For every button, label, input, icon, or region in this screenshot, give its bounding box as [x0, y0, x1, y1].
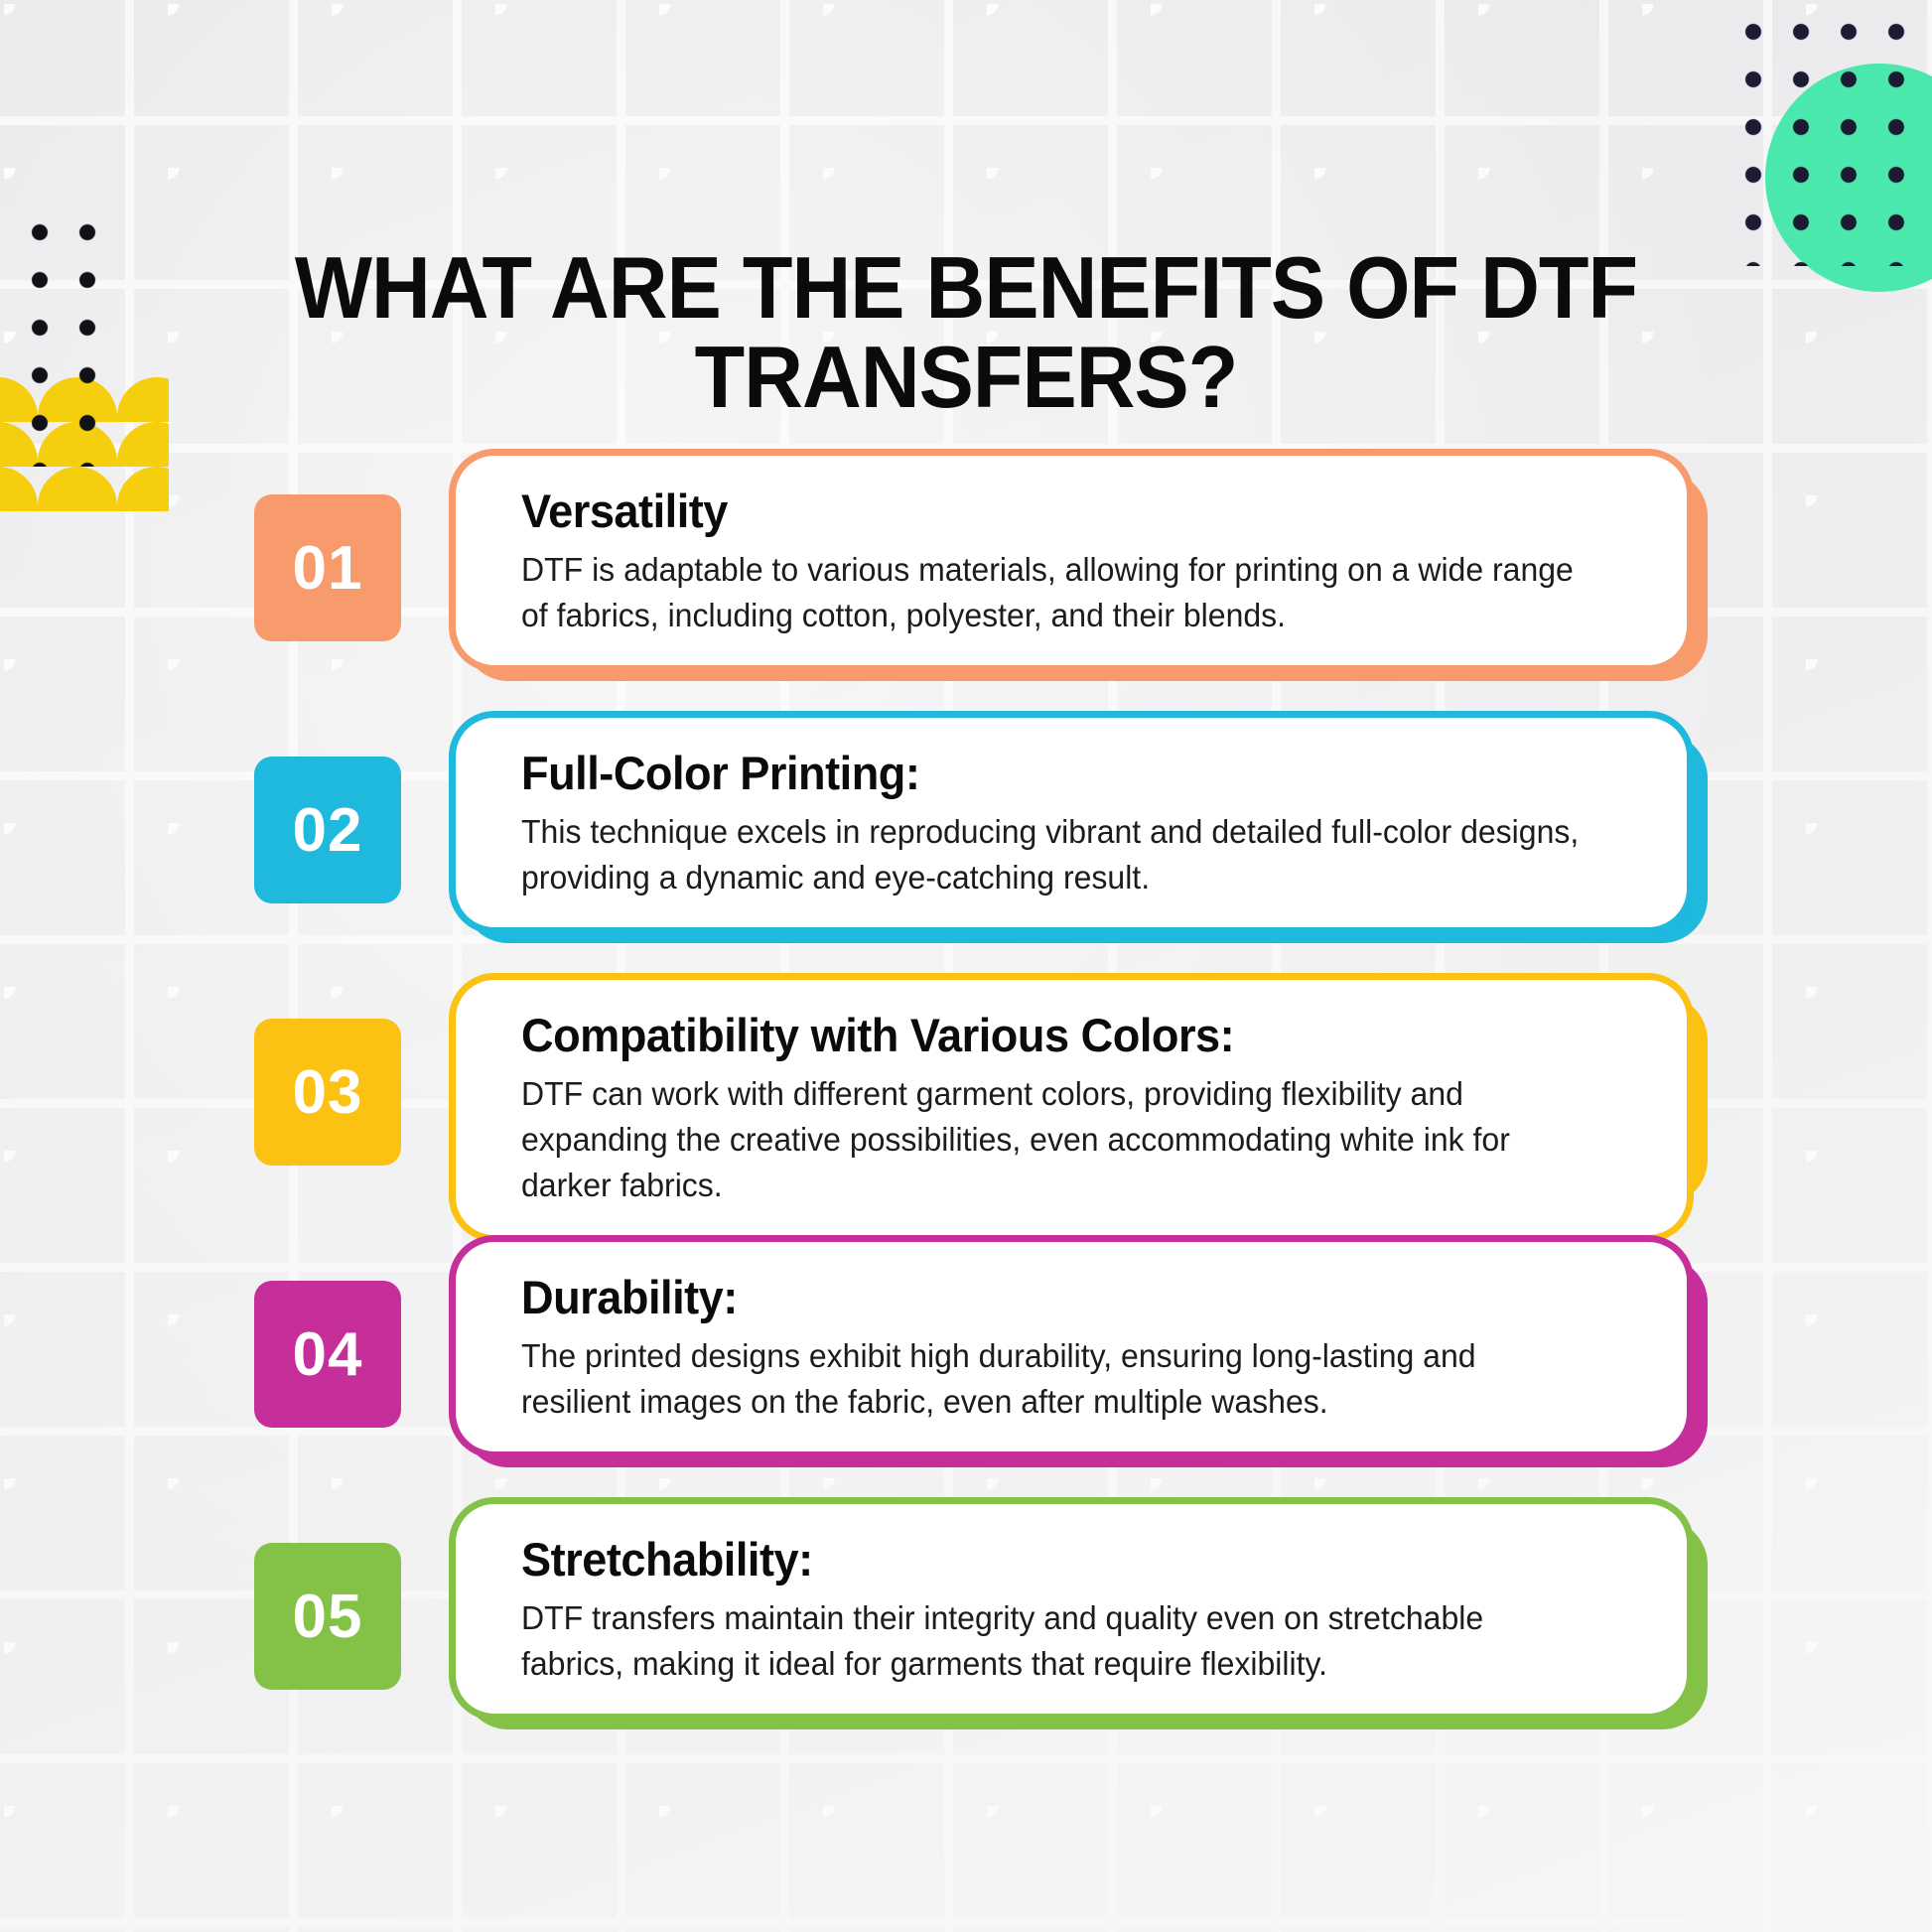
page-title: WHAT ARE THE BENEFITS OF DTF TRANSFERS? [282, 243, 1650, 422]
page-title-line-1: WHAT ARE THE BENEFITS OF DTF [295, 238, 1637, 337]
benefit-number-badge-2: 02 [254, 757, 401, 903]
benefit-card-2[interactable]: Full-Color Printing: This technique exce… [449, 711, 1694, 934]
dot-grid-left-decoration [16, 208, 113, 467]
benefit-card-3[interactable]: Compatibility with Various Colors: DTF c… [449, 973, 1694, 1242]
benefit-number-label: 02 [293, 795, 363, 866]
benefit-title-3: Compatibility with Various Colors: [521, 1010, 1596, 1062]
benefit-number-badge-4: 04 [254, 1281, 401, 1428]
benefit-number-badge-1: 01 [254, 494, 401, 641]
benefit-card-1[interactable]: Versatility DTF is adaptable to various … [449, 449, 1694, 672]
benefit-body-4: The printed designs exhibit high durabil… [521, 1334, 1590, 1426]
benefit-title-4: Durability: [521, 1272, 1596, 1324]
benefit-body-5: DTF transfers maintain their integrity a… [521, 1596, 1590, 1688]
semicircle-shape [117, 377, 169, 422]
benefit-number-label: 01 [293, 533, 363, 604]
benefit-row: 02 Full-Color Printing: This technique e… [0, 711, 1932, 973]
benefit-body-2: This technique excels in reproducing vib… [521, 810, 1590, 901]
benefit-title-5: Stretchability: [521, 1534, 1596, 1587]
benefit-row: 01 Versatility DTF is adaptable to vario… [0, 449, 1932, 711]
page-title-line-2: TRANSFERS? [695, 328, 1238, 426]
dot-grid-right-decoration [1729, 8, 1928, 266]
benefit-number-label: 03 [293, 1057, 363, 1128]
benefit-body-1: DTF is adaptable to various materials, a… [521, 548, 1590, 639]
benefit-title-2: Full-Color Printing: [521, 748, 1596, 800]
benefit-row: 03 Compatibility with Various Colors: DT… [0, 973, 1932, 1235]
benefit-number-label: 04 [293, 1319, 363, 1390]
benefit-number-badge-3: 03 [254, 1019, 401, 1166]
benefit-number-badge-5: 05 [254, 1543, 401, 1690]
benefit-card-4[interactable]: Durability: The printed designs exhibit … [449, 1235, 1694, 1458]
benefit-number-label: 05 [293, 1582, 363, 1652]
benefit-title-1: Versatility [521, 485, 1596, 538]
infographic-poster: WHAT ARE THE BENEFITS OF DTF TRANSFERS? … [0, 0, 1932, 1932]
benefit-row: 04 Durability: The printed designs exhib… [0, 1235, 1932, 1497]
benefit-row: 05 Stretchability: DTF transfers maintai… [0, 1497, 1932, 1759]
benefit-body-3: DTF can work with different garment colo… [521, 1072, 1590, 1210]
benefit-card-5[interactable]: Stretchability: DTF transfers maintain t… [449, 1497, 1694, 1721]
benefit-list: 01 Versatility DTF is adaptable to vario… [0, 449, 1932, 1759]
